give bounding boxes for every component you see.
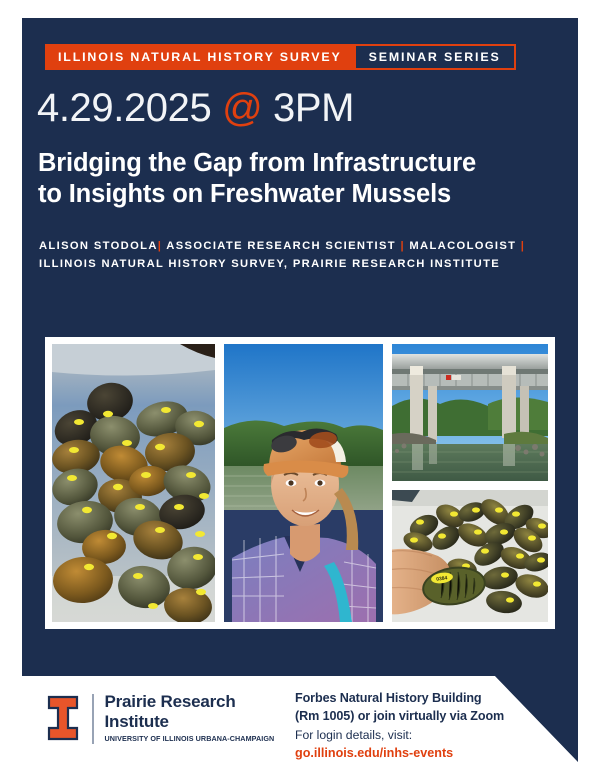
photo-researcher-on-river <box>224 344 383 622</box>
logo-university-subtitle: UNIVERSITY OF ILLINOIS URBANA-CHAMPAIGN <box>105 734 275 743</box>
speaker-affiliation: ILLINOIS NATURAL HISTORY SURVEY, PRAIRIE… <box>39 258 500 270</box>
event-datetime: 4.29.2025 @ 3PM <box>37 86 354 131</box>
location-line-2: (Rm 1005) or join virtually via Zoom <box>295 708 563 726</box>
eyebrow-series-label: SEMINAR SERIES <box>354 44 516 70</box>
photo-hand-holding-tagged-mussel: 0384 <box>392 490 548 622</box>
credit-separator-1: | <box>158 240 162 252</box>
eyebrow-organization-label: ILLINOIS NATURAL HISTORY SURVEY <box>45 44 354 70</box>
credit-separator-2: | <box>400 240 404 252</box>
photo-highway-bridge-over-river <box>392 344 548 481</box>
login-details-note: For login details, visit: <box>295 727 563 744</box>
photo-collage: 0384 <box>45 337 555 629</box>
photo-hand-mussel-art: 0384 <box>392 490 548 622</box>
event-location-info: Forbes Natural History Building (Rm 1005… <box>295 690 563 762</box>
logo-name-line-1: Prairie Research <box>105 692 275 712</box>
seminar-poster: ILLINOIS NATURAL HISTORY SURVEY SEMINAR … <box>22 18 578 762</box>
logo-divider <box>92 694 94 744</box>
eyebrow-banner: ILLINOIS NATURAL HISTORY SURVEY SEMINAR … <box>45 44 516 70</box>
photo-researcher-art <box>224 344 383 622</box>
poster-footer: Prairie Research Institute UNIVERSITY OF… <box>22 676 578 762</box>
block-i-icon <box>46 695 80 741</box>
photo-mussels-in-tray <box>52 344 215 622</box>
speaker-role-1: ASSOCIATE RESEARCH SCIENTIST <box>166 240 396 252</box>
title-line-1: Bridging the Gap from Infrastructure <box>38 148 566 179</box>
speaker-role-2: MALACOLOGIST <box>409 240 516 252</box>
credit-separator-3: | <box>521 240 525 252</box>
event-time: 3PM <box>273 86 354 130</box>
speaker-name: ALISON STODOLA <box>39 240 158 252</box>
title-line-2: to Insights on Freshwater Mussels <box>38 179 566 210</box>
page-title: Bridging the Gap from Infrastructure to … <box>38 148 566 210</box>
logo-name-line-2: Institute <box>105 712 275 732</box>
location-line-1: Forbes Natural History Building <box>295 690 563 708</box>
event-link[interactable]: go.illinois.edu/inhs-events <box>295 745 563 762</box>
speaker-credit: ALISON STODOLA| ASSOCIATE RESEARCH SCIEN… <box>39 237 563 273</box>
event-date: 4.29.2025 <box>37 86 211 130</box>
photo-bridge-art <box>392 344 548 481</box>
prairie-research-institute-logo: Prairie Research Institute UNIVERSITY OF… <box>46 692 274 744</box>
at-symbol: @ <box>222 86 262 130</box>
photo-mussels-in-tray-art <box>52 344 215 622</box>
